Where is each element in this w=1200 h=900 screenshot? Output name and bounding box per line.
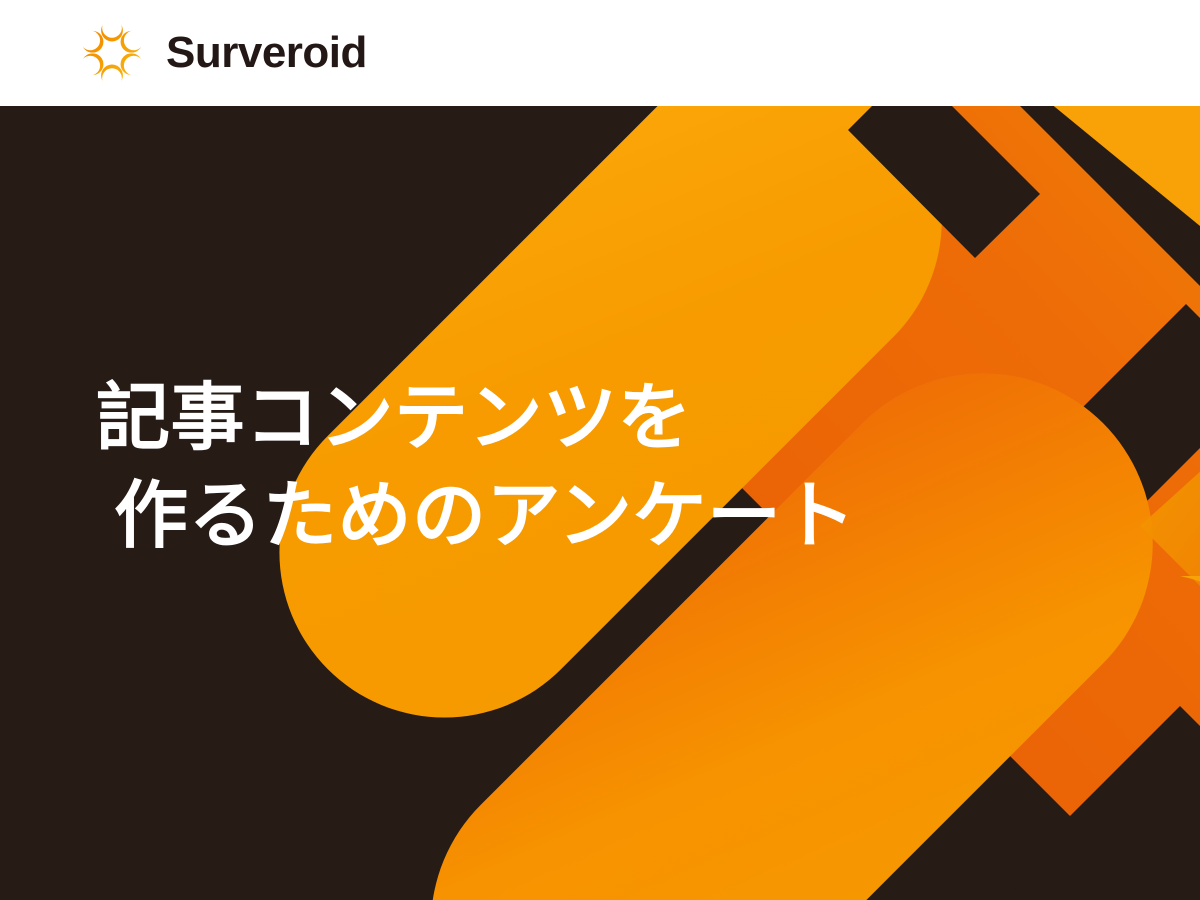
brand-lockup[interactable]: Surveroid (78, 19, 367, 87)
surveroid-flower-logo-icon (78, 19, 146, 87)
page-header: Surveroid (0, 0, 1200, 106)
hero-banner: 記事コンテンツを作るためのアンケート (0, 106, 1200, 900)
hero-title: 記事コンテンツを作るためのアンケート (96, 370, 856, 565)
hero-title-line-2: 作るためのアンケート (96, 468, 856, 566)
hero-title-line-1: 記事コンテンツを (96, 370, 856, 468)
slide-canvas: Surveroid (0, 0, 1200, 900)
brand-name-label: Surveroid (166, 31, 367, 75)
